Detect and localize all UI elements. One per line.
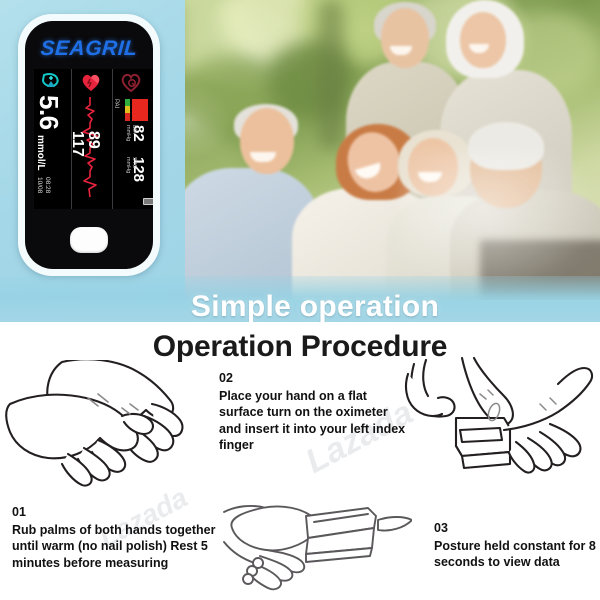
two-hands-rubbing-illustration — [2, 360, 212, 500]
glucose-unit: mmol/L — [35, 135, 46, 171]
step-01-text: 01 Rub palms of both hands together unti… — [12, 504, 217, 571]
dia-unit: mmHg — [125, 125, 131, 141]
simple-operation-label: Simple operation — [0, 290, 600, 322]
heart-icon — [80, 72, 110, 94]
step-01-body: Rub palms of both hands together until w… — [12, 523, 215, 570]
finger-inserting-oximeter-illustration — [400, 356, 598, 506]
device-screen: 5.6 mmol/L 08:28 10/08 — [34, 69, 153, 209]
screen-column-glucose: 5.6 mmol/L 08:28 10/08 — [34, 69, 72, 209]
heart-secondary-value: 117 — [68, 131, 86, 157]
hero-section: SEAGRIL 5.6 mmol/L 08:28 10/08 — [0, 0, 600, 322]
step-03-text: 03 Posture held constant for 8 seconds t… — [434, 520, 599, 571]
step-02-number: 02 — [219, 370, 409, 387]
device-brand-logo: SEAGRIL — [25, 37, 153, 61]
screen-column-pressure: PAI 82 DIA mmHg 128 SYS mmHg — [113, 69, 153, 209]
device-power-button[interactable] — [70, 227, 108, 253]
screen-column-heart: 89 117 — [72, 69, 113, 209]
glucose-value: 5.6 — [33, 95, 64, 130]
procedure-section: Operation Procedure Lazada Lazada — [0, 322, 600, 600]
step-02-text: 02 Place your hand on a flat surface tur… — [219, 370, 409, 454]
step-03-number: 03 — [434, 520, 599, 537]
step-01-number: 01 — [12, 504, 217, 521]
hand-resting-with-oximeter-illustration — [222, 494, 412, 600]
glucose-date: 10/08 — [36, 177, 43, 193]
dia-label: DIA — [131, 125, 137, 134]
step-02-body: Place your hand on a flat surface turn o… — [219, 389, 405, 453]
glucose-drop-icon — [38, 72, 68, 94]
sys-label: SYS — [131, 157, 137, 168]
pai-bar-graph — [125, 99, 149, 121]
sys-unit: mmHg — [125, 157, 131, 173]
heart-rate-value: 89 — [84, 131, 102, 149]
pai-label: PAI — [113, 99, 119, 108]
oximeter-device: SEAGRIL 5.6 mmol/L 08:28 10/08 — [18, 14, 160, 276]
device-body: SEAGRIL 5.6 mmol/L 08:28 10/08 — [25, 21, 153, 269]
battery-icon — [143, 198, 153, 205]
lifestyle-photo — [150, 0, 600, 300]
glucose-time: 08:28 — [44, 177, 51, 193]
blood-pressure-icon — [119, 72, 149, 94]
step-03-body: Posture held constant for 8 seconds to v… — [434, 539, 596, 570]
